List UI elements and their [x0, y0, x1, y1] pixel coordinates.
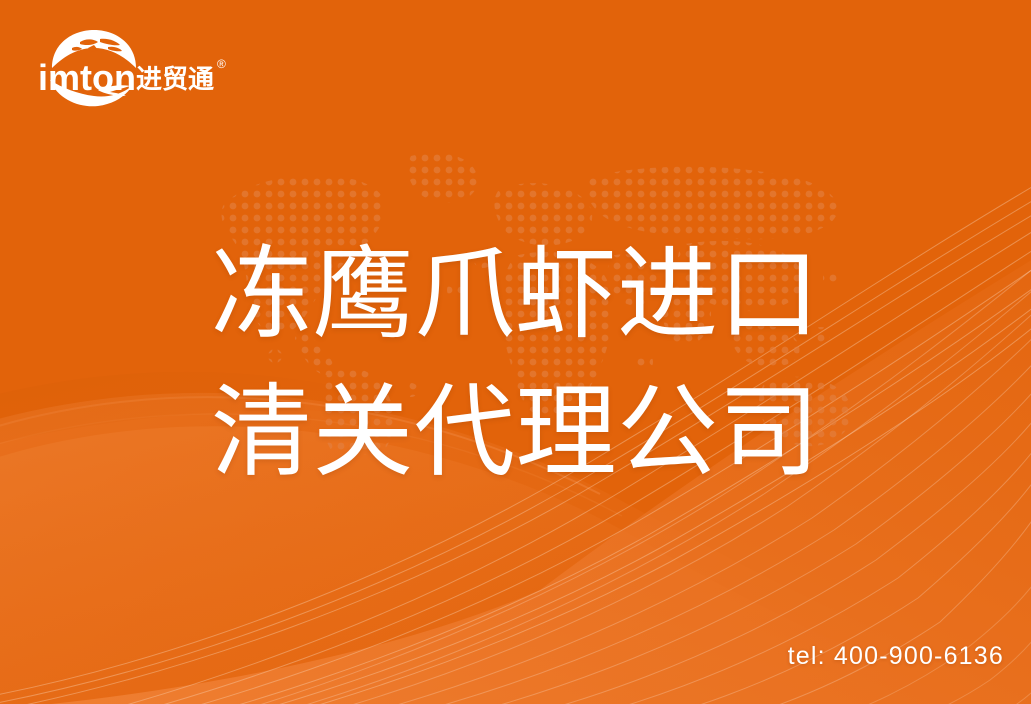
promo-banner: imton 进贸通 ® 冻鹰爪虾进口 清关代理公司 tel: 400-900-6… — [0, 0, 1031, 704]
logo-artwork: imton 进贸通 ® — [36, 26, 236, 110]
contact-phone[interactable]: tel: 400-900-6136 — [788, 642, 1004, 671]
headline-line-2: 清关代理公司 — [211, 364, 851, 502]
headline-line-1: 冻鹰爪虾进口 — [211, 226, 851, 364]
headline: 冻鹰爪虾进口 清关代理公司 — [211, 226, 851, 503]
company-logo[interactable]: imton 进贸通 ® — [36, 26, 236, 110]
logo-wordmark: imton — [38, 57, 136, 98]
logo-chinese-name: 进贸通 — [136, 65, 214, 95]
trademark-symbol: ® — [217, 57, 226, 71]
